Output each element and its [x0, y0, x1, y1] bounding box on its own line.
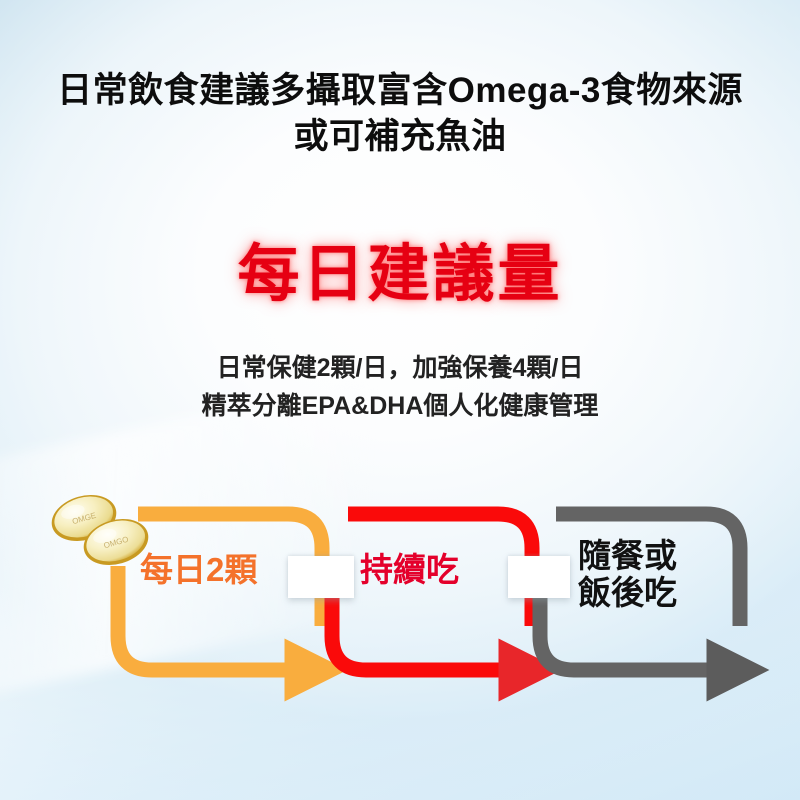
fish-oil-capsules: OMGE OMGO [44, 492, 162, 570]
page-title: 日常飲食建議多攝取富含Omega-3食物來源 或可補充魚油 [0, 68, 800, 159]
flow-label-step-3: 隨餐或 飯後吃 [578, 538, 677, 612]
label-mask-left [288, 556, 354, 598]
poster-canvas: 日常飲食建議多攝取富含Omega-3食物來源 或可補充魚油 每日建議量 日常保健… [0, 0, 800, 800]
flow-label-step-2: 持續吃 [360, 552, 459, 589]
flow-label-step-3-line-2: 飯後吃 [578, 575, 677, 612]
header-line-1: 日常飲食建議多攝取富含Omega-3食物來源 [0, 68, 800, 114]
subtitle-block: 日常保健2顆/日，加強保養4顆/日 精萃分離EPA&DHA個人化健康管理 [0, 350, 800, 425]
flow-label-step-3-line-1: 隨餐或 [578, 538, 677, 575]
subtitle-line-1: 日常保健2顆/日，加強保養4顆/日 [0, 350, 800, 388]
header-line-2: 或可補充魚油 [0, 114, 800, 160]
hero-heading: 每日建議量 [0, 244, 800, 306]
subtitle-line-2: 精萃分離EPA&DHA個人化健康管理 [0, 388, 800, 426]
label-mask-right [508, 556, 570, 598]
